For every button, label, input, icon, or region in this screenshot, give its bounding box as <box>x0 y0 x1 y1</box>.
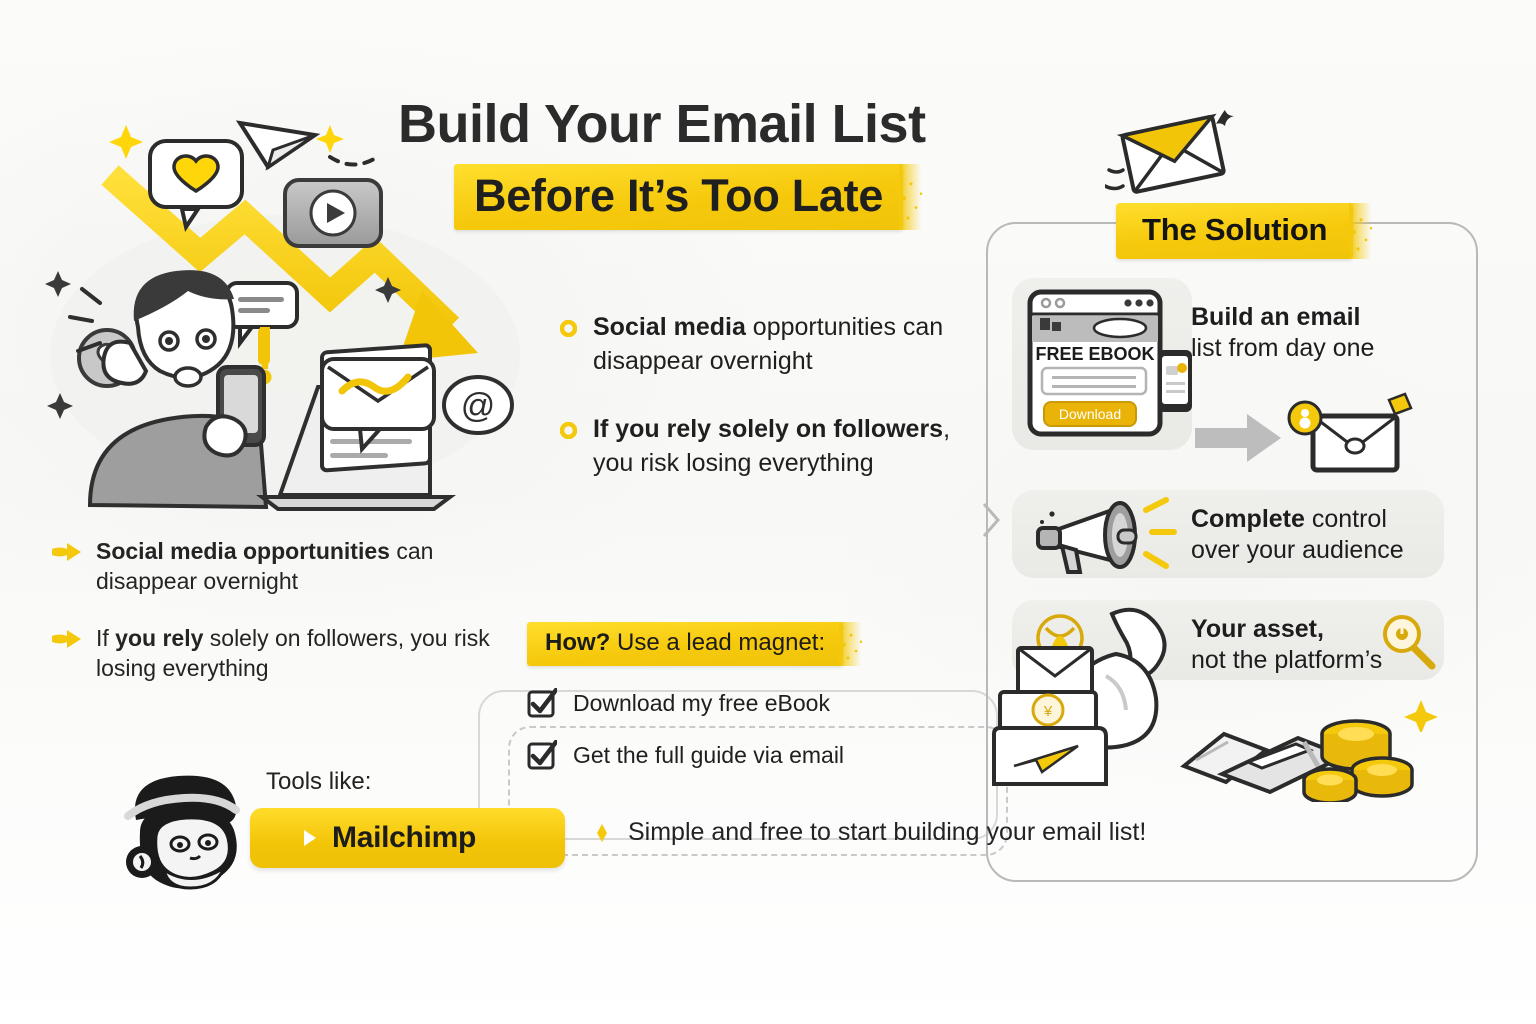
left-bullet-list: Social media opportunities can disappear… <box>52 536 522 709</box>
ring-bullet-icon <box>560 422 577 439</box>
infographic-canvas: @ Build Your Email List Before It’s Too … <box>0 0 1536 1024</box>
svg-text:¥: ¥ <box>1043 703 1053 720</box>
list-item-bold: Social media opportunities <box>96 538 390 564</box>
solution-tag-label: The Solution <box>1142 212 1327 247</box>
chevron-right-icon <box>980 500 1002 540</box>
how-label: How? Use a lead magnet: <box>545 629 825 656</box>
list-item: Social media opportunities can disappear… <box>52 536 522 597</box>
arrow-to-envelope-art <box>1195 392 1433 484</box>
page-subtitle: Before It’s Too Late <box>474 170 883 221</box>
download-button-text: Download <box>1059 406 1121 422</box>
diamond-bullet-icon <box>592 823 612 843</box>
list-item-bold: you rely <box>115 625 203 651</box>
play-triangle-icon <box>302 828 318 848</box>
list-item-text: Social media opportunities can disappear… <box>593 310 960 378</box>
mailchimp-label: Mailchimp <box>332 821 476 855</box>
list-item-bold: If you rely solely on followers <box>593 415 943 443</box>
center-bullet-list: Social media opportunities can disappear… <box>560 310 960 514</box>
subtitle-highlight: Before It’s Too Late <box>454 164 1088 230</box>
list-item: Social media opportunities can disappear… <box>560 310 960 378</box>
arrow-marker-icon <box>52 543 82 561</box>
how-highlight: How? Use a lead magnet: <box>527 622 957 666</box>
svg-text:@: @ <box>461 387 496 425</box>
list-item: If you rely solely on followers, you ris… <box>52 623 522 684</box>
bird-mark-icon <box>1212 108 1238 134</box>
sparkle-icon <box>109 125 143 159</box>
checklist-item-label: Get the full guide via email <box>573 742 844 769</box>
paper-plane-icon <box>240 123 374 167</box>
bottom-note: Simple and free to start building your e… <box>592 818 1146 847</box>
mailchimp-chip[interactable]: Mailchimp <box>250 808 565 868</box>
checklist-item[interactable]: Get the full guide via email <box>527 740 957 770</box>
bottom-note-text: Simple and free to start building your e… <box>628 818 1146 847</box>
checkbox-checked-icon[interactable] <box>527 740 557 770</box>
solution-row-1-bold: Build an email <box>1191 303 1360 331</box>
sparkle-icon <box>1404 698 1438 732</box>
mailchimp-monkey-icon <box>110 770 270 905</box>
how-label-rest: Use a lead magnet: <box>610 629 825 656</box>
page-title: Build Your Email List <box>398 96 1088 152</box>
checkbox-checked-icon[interactable] <box>527 688 557 718</box>
arrow-marker-icon <box>52 630 82 648</box>
list-item-pre: If <box>96 625 115 651</box>
list-item-text: Social media opportunities can disappear… <box>96 536 522 597</box>
magnifier-icon <box>1378 612 1438 674</box>
megaphone-art <box>1022 488 1192 584</box>
coin-stack-icon <box>1352 758 1412 796</box>
sparkle-icon <box>316 125 344 153</box>
solution-tag: The Solution <box>1116 203 1353 259</box>
solution-row-2-bold: Complete <box>1191 505 1305 533</box>
play-video-icon <box>285 180 381 246</box>
list-item-text: If you rely solely on followers, you ris… <box>593 412 960 480</box>
at-symbol-icon: @ <box>444 377 512 433</box>
list-item-bold: Social media <box>593 313 746 341</box>
free-ebook-badge-text: FREE EBOOK <box>1035 344 1154 364</box>
solution-row-1-rest: list from day one <box>1191 333 1453 364</box>
solution-row-1-text: Build an email list from day one <box>1191 302 1453 363</box>
how-label-bold: How? <box>545 629 610 656</box>
checklist-item-label: Download my free eBook <box>573 690 830 717</box>
checklist-item[interactable]: Download my free eBook <box>527 688 957 718</box>
free-ebook-landing-page-art: FREE EBOOK Download <box>1016 280 1194 452</box>
lead-magnet-block: How? Use a lead magnet: Download my free… <box>527 622 957 770</box>
title-block: Build Your Email List Before It’s Too La… <box>398 96 1088 230</box>
money-stack-art <box>1178 690 1418 802</box>
solution-row-2-text: Complete control over your audience <box>1191 504 1441 565</box>
list-item-text: If you rely solely on followers, you ris… <box>96 623 522 684</box>
list-item: If you rely solely on followers, you ris… <box>560 412 960 480</box>
ring-bullet-icon <box>560 320 577 337</box>
sparkle-icon <box>45 271 71 297</box>
coin-stack-icon <box>1304 769 1356 802</box>
tools-label: Tools like: <box>266 768 371 796</box>
